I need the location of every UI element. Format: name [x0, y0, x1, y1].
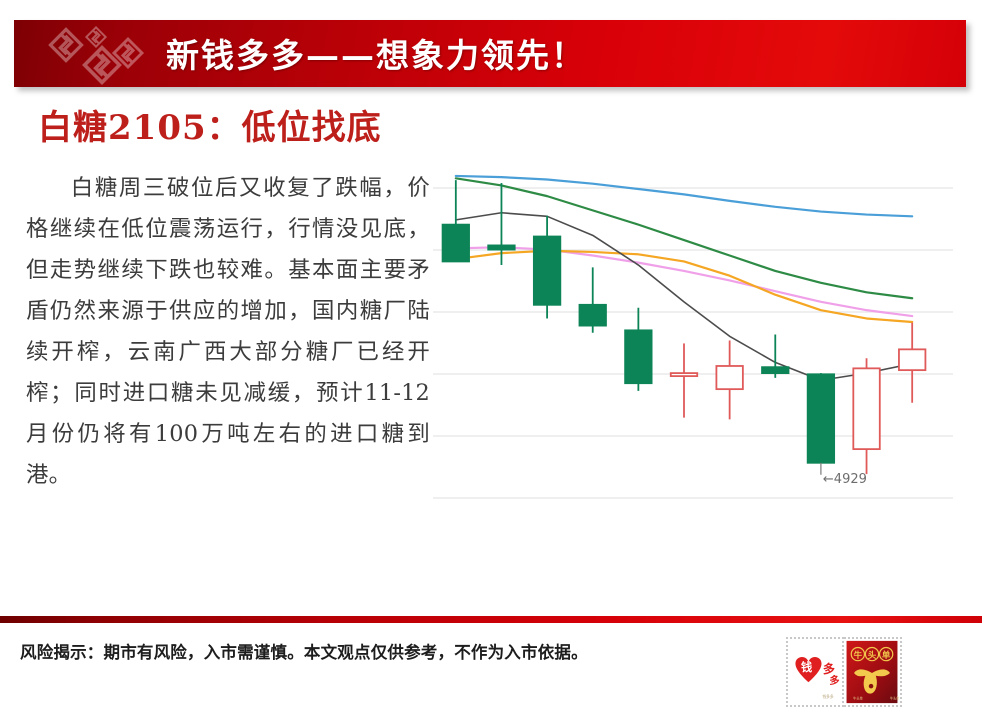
svg-text:牛: 牛 — [854, 650, 863, 660]
candle — [853, 358, 879, 474]
candlestick-chart: ←4929 — [415, 150, 970, 550]
body-paragraph: 白糖周三破位后又收复了跌幅，价格继续在低位震荡运行，行情没见底，但走势继续下跌也… — [26, 168, 430, 496]
svg-text:头: 头 — [868, 650, 877, 660]
chart-candles — [443, 180, 926, 474]
header-title: 新钱多多——想象力领先！ — [166, 29, 586, 77]
svg-text:多: 多 — [829, 674, 839, 687]
candle — [625, 308, 651, 391]
footer-stamps: 钱 多 多 钱多多 牛 头 — [786, 637, 902, 707]
svg-text:牛头单: 牛头单 — [853, 695, 863, 700]
candle — [716, 340, 742, 419]
candle — [899, 323, 925, 403]
svg-text:牛头单: 牛头单 — [890, 695, 900, 700]
svg-text:多: 多 — [823, 661, 835, 676]
footer-divider — [0, 616, 982, 623]
chart-gridlines — [433, 188, 953, 498]
chart-annotation: ←4929 — [821, 463, 867, 487]
risk-disclaimer: 风险揭示：期市有风险，入市需谨慎。本文观点仅供参考，不作为入市依据。 — [20, 641, 720, 665]
qianduoduo-stamp: 钱 多 多 钱多多 — [786, 637, 844, 707]
candle — [579, 267, 605, 332]
candle — [671, 343, 697, 417]
header-banner: 新钱多多——想象力领先！ — [14, 20, 966, 87]
svg-text:钱多多: 钱多多 — [822, 694, 833, 699]
candle — [762, 335, 788, 378]
diamond-lattice-logo-icon — [36, 25, 154, 85]
slide-root: 新钱多多——想象力领先！ 白糖2105：低位找底 白糖周三破位后又收复了跌幅，价… — [0, 0, 982, 720]
price-annotation-label: ←4929 — [823, 472, 867, 487]
svg-text:单: 单 — [882, 650, 891, 660]
candle — [534, 216, 560, 319]
niutoudan-stamp: 牛 头 单 牛头单 牛头单 — [844, 637, 902, 707]
page-title: 白糖2105：低位找底 — [38, 100, 382, 149]
svg-text:钱: 钱 — [801, 660, 812, 674]
chart-canvas: ←4929 — [415, 150, 970, 550]
candle — [443, 180, 469, 261]
candle — [808, 373, 834, 463]
